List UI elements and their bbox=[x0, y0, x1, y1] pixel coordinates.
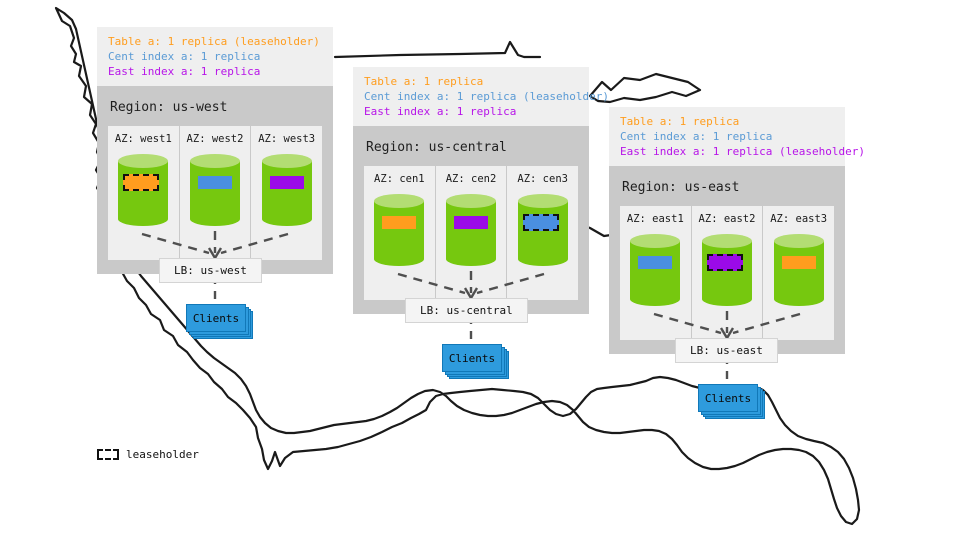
region-legend-us-central: Table a: 1 replica Cent index a: 1 repli… bbox=[353, 67, 589, 126]
node-cylinder-west2[interactable] bbox=[190, 154, 240, 226]
region-card-us-east: Table a: 1 replica Cent index a: 1 repli… bbox=[609, 107, 845, 354]
replica-bar-east-index-a bbox=[270, 176, 304, 189]
clients-label[interactable]: Clients bbox=[698, 384, 758, 412]
az-label: AZ: west2 bbox=[180, 133, 251, 145]
legend-cent-index-a: Cent index a: 1 replica (leaseholder) bbox=[364, 89, 580, 104]
dashed-rect-icon bbox=[97, 449, 119, 460]
az-cen3[interactable]: AZ: cen3 bbox=[507, 166, 578, 300]
region-card-us-west: Table a: 1 replica (leaseholder) Cent in… bbox=[97, 27, 333, 274]
region-body-us-west: Region: us-west AZ: west1 AZ: west2 bbox=[97, 86, 333, 274]
az-label: AZ: west1 bbox=[108, 133, 179, 145]
replica-bar-cent-index-a-leaseholder bbox=[523, 214, 559, 231]
region-title: Region: us-east bbox=[620, 176, 834, 206]
replica-bar-east-index-a-leaseholder bbox=[707, 254, 743, 271]
legend-table-a: Table a: 1 replica bbox=[620, 114, 836, 129]
az-west3[interactable]: AZ: west3 bbox=[251, 126, 322, 260]
az-west1[interactable]: AZ: west1 bbox=[108, 126, 180, 260]
az-label: AZ: cen2 bbox=[436, 173, 507, 185]
region-title: Region: us-west bbox=[108, 96, 322, 126]
az-label: AZ: cen3 bbox=[507, 173, 578, 185]
clients-label[interactable]: Clients bbox=[186, 304, 246, 332]
legend-table-a: Table a: 1 replica bbox=[364, 74, 580, 89]
region-card-us-central: Table a: 1 replica Cent index a: 1 repli… bbox=[353, 67, 589, 314]
region-title: Region: us-central bbox=[364, 136, 578, 166]
az-cen2[interactable]: AZ: cen2 bbox=[436, 166, 508, 300]
legend-east-index-a: East index a: 1 replica bbox=[108, 64, 324, 79]
load-balancer-us-west[interactable]: LB: us-west bbox=[159, 258, 262, 283]
clients-stack-us-west[interactable]: Clients bbox=[186, 304, 254, 338]
legend-cent-index-a: Cent index a: 1 replica bbox=[620, 129, 836, 144]
az-west2[interactable]: AZ: west2 bbox=[180, 126, 252, 260]
region-legend-us-east: Table a: 1 replica Cent index a: 1 repli… bbox=[609, 107, 845, 166]
az-east2[interactable]: AZ: east2 bbox=[692, 206, 764, 340]
replica-bar-table-a-leaseholder bbox=[123, 174, 159, 191]
az-cen1[interactable]: AZ: cen1 bbox=[364, 166, 436, 300]
node-cylinder-west1[interactable] bbox=[118, 154, 168, 226]
legend-cent-index-a: Cent index a: 1 replica bbox=[108, 49, 324, 64]
az-label: AZ: east1 bbox=[620, 213, 691, 225]
clients-stack-us-east[interactable]: Clients bbox=[698, 384, 766, 418]
legend-east-index-a: East index a: 1 replica bbox=[364, 104, 580, 119]
load-balancer-us-east[interactable]: LB: us-east bbox=[675, 338, 778, 363]
node-cylinder-east3[interactable] bbox=[774, 234, 824, 306]
load-balancer-us-central[interactable]: LB: us-central bbox=[405, 298, 528, 323]
region-body-us-east: Region: us-east AZ: east1 AZ: east2 bbox=[609, 166, 845, 354]
replica-bar-cent-index-a bbox=[638, 256, 672, 269]
leaseholder-legend: leaseholder bbox=[97, 448, 199, 461]
az-row: AZ: west1 AZ: west2 AZ: we bbox=[108, 126, 322, 260]
clients-stack-us-central[interactable]: Clients bbox=[442, 344, 510, 378]
az-label: AZ: west3 bbox=[251, 133, 322, 145]
legend-table-a: Table a: 1 replica (leaseholder) bbox=[108, 34, 324, 49]
node-cylinder-cen1[interactable] bbox=[374, 194, 424, 266]
region-legend-us-west: Table a: 1 replica (leaseholder) Cent in… bbox=[97, 27, 333, 86]
az-row: AZ: east1 AZ: east2 AZ: ea bbox=[620, 206, 834, 340]
node-cylinder-east1[interactable] bbox=[630, 234, 680, 306]
leaseholder-legend-label: leaseholder bbox=[126, 448, 199, 461]
az-label: AZ: cen1 bbox=[364, 173, 435, 185]
node-cylinder-cen3[interactable] bbox=[518, 194, 568, 266]
az-label: AZ: east3 bbox=[763, 213, 834, 225]
legend-east-index-a: East index a: 1 replica (leaseholder) bbox=[620, 144, 836, 159]
az-row: AZ: cen1 AZ: cen2 AZ: cen3 bbox=[364, 166, 578, 300]
az-east1[interactable]: AZ: east1 bbox=[620, 206, 692, 340]
node-cylinder-west3[interactable] bbox=[262, 154, 312, 226]
region-body-us-central: Region: us-central AZ: cen1 AZ: cen2 bbox=[353, 126, 589, 314]
node-cylinder-east2[interactable] bbox=[702, 234, 752, 306]
replica-bar-cent-index-a bbox=[198, 176, 232, 189]
replica-bar-table-a bbox=[382, 216, 416, 229]
az-label: AZ: east2 bbox=[692, 213, 763, 225]
clients-label[interactable]: Clients bbox=[442, 344, 502, 372]
replica-bar-east-index-a bbox=[454, 216, 488, 229]
az-east3[interactable]: AZ: east3 bbox=[763, 206, 834, 340]
replica-bar-table-a bbox=[782, 256, 816, 269]
node-cylinder-cen2[interactable] bbox=[446, 194, 496, 266]
